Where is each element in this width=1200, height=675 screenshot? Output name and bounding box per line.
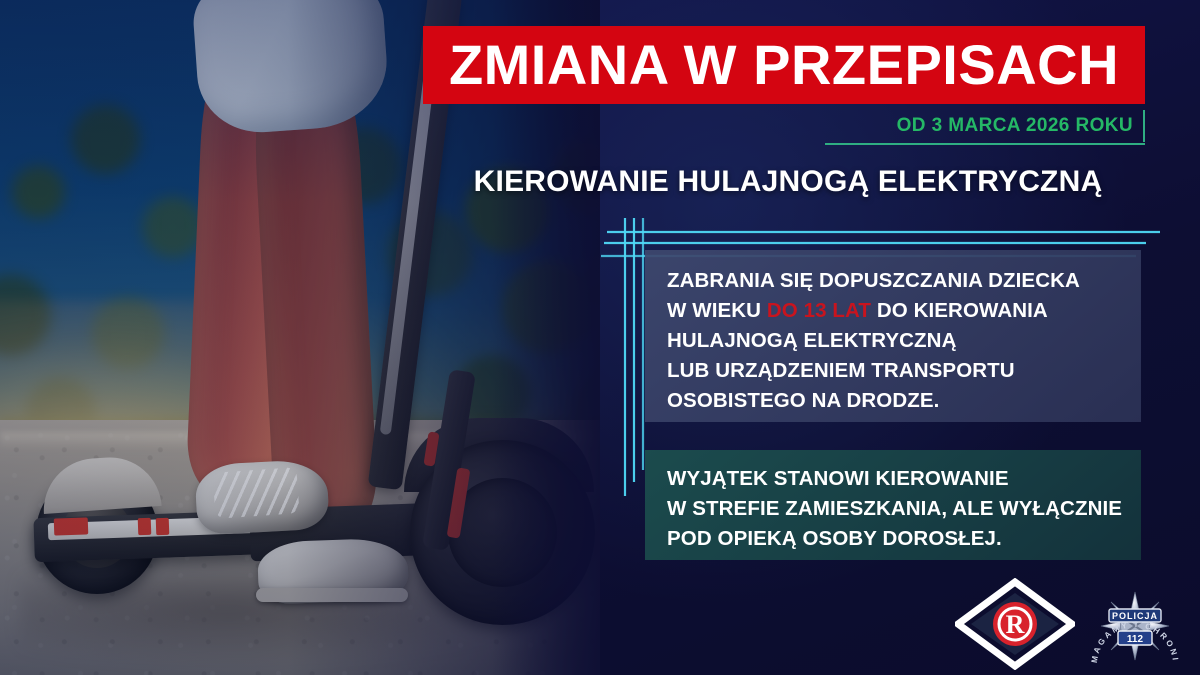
traffic-police-diamond-logo: R <box>955 578 1075 670</box>
subtitle-bar: KIEROWANIE HULAJNOGĄ ELEKTRYCZNĄ <box>418 160 1158 204</box>
police-star-badge-logo: POLICJA 112 POMAGAMY I CHRONIMY <box>1085 578 1185 673</box>
prohibition-line-1-text: ZABRANIA SIĘ DOPUSZCZANIA DZIECKA <box>667 269 1080 292</box>
exception-line-3: POD OPIEKĄ OSOBY DOROSŁEJ. <box>667 524 1141 554</box>
police-badge-motto: POMAGAMY I CHRONIMY <box>1085 578 1180 664</box>
traffic-police-letter: R <box>1006 610 1025 639</box>
prohibition-line-2-suffix: DO KIEROWANIA <box>871 299 1048 322</box>
poster-root: ZMIANA W PRZEPISACH OD 3 MARCA 2026 ROKU… <box>0 0 1200 675</box>
prohibition-line-4: LUB URZĄDZENIEM TRANSPORTU <box>667 356 1141 386</box>
prohibition-text-panel: ZABRANIA SIĘ DOPUSZCZANIA DZIECKA W WIEK… <box>645 250 1141 422</box>
police-badge-motto-text: POMAGAMY I CHRONIMY <box>1085 578 1180 664</box>
exception-line-1: WYJĄTEK STANOWI KIEROWANIE <box>667 464 1141 494</box>
age-limit-highlight: DO 13 LAT <box>767 299 871 322</box>
police-badge-banner: POLICJA <box>1112 611 1158 621</box>
effective-date-text: OD 3 MARCA 2026 ROKU <box>897 115 1133 137</box>
police-badge-emergency-number: 112 <box>1127 634 1144 645</box>
page-title: ZMIANA W PRZEPISACH <box>449 37 1119 93</box>
subtitle-text: KIEROWANIE HULAJNOGĄ ELEKTRYCZNĄ <box>474 165 1103 199</box>
effective-date-badge: OD 3 MARCA 2026 ROKU <box>860 110 1145 142</box>
exception-text-panel: WYJĄTEK STANOWI KIEROWANIE W STREFIE ZAM… <box>645 450 1141 560</box>
prohibition-line-5: OSOBISTEGO NA DRODZE. <box>667 386 1141 416</box>
prohibition-line-1: ZABRANIA SIĘ DOPUSZCZANIA DZIECKA <box>667 266 1141 296</box>
prohibition-line-2: W WIEKU DO 13 LAT DO KIEROWANIA <box>667 296 1141 326</box>
exception-line-2: W STREFIE ZAMIESZKANIA, ALE WYŁĄCZNIE <box>667 494 1141 524</box>
main-title-banner: ZMIANA W PRZEPISACH <box>423 26 1145 104</box>
prohibition-line-2-prefix: W WIEKU <box>667 299 767 322</box>
prohibition-line-3: HULAJNOGĄ ELEKTRYCZNĄ <box>667 326 1141 356</box>
